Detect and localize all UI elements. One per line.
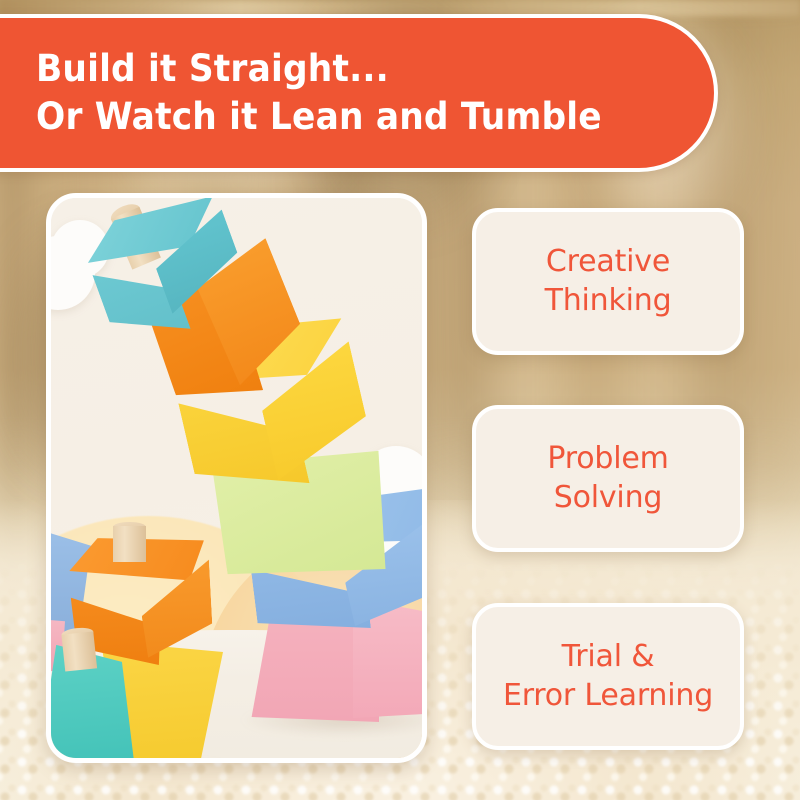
wood-peg-orange-house [113, 522, 146, 562]
feature-card-creative-thinking[interactable]: Creative Thinking [472, 208, 744, 355]
feature-card-label: Creative Thinking [545, 243, 672, 320]
wood-peg-teal-wedge [61, 626, 97, 671]
product-photo-card [46, 193, 427, 763]
feature-card-label: Trial & Error Learning [503, 638, 713, 715]
product-photo [51, 198, 422, 758]
feature-card-trial-error-learning[interactable]: Trial & Error Learning [472, 603, 744, 750]
feature-card-problem-solving[interactable]: Problem Solving [472, 405, 744, 552]
headline-text: Build it Straight... Or Watch it Lean an… [36, 45, 602, 141]
headline-banner: Build it Straight... Or Watch it Lean an… [0, 14, 718, 172]
feature-card-label: Problem Solving [547, 440, 668, 517]
